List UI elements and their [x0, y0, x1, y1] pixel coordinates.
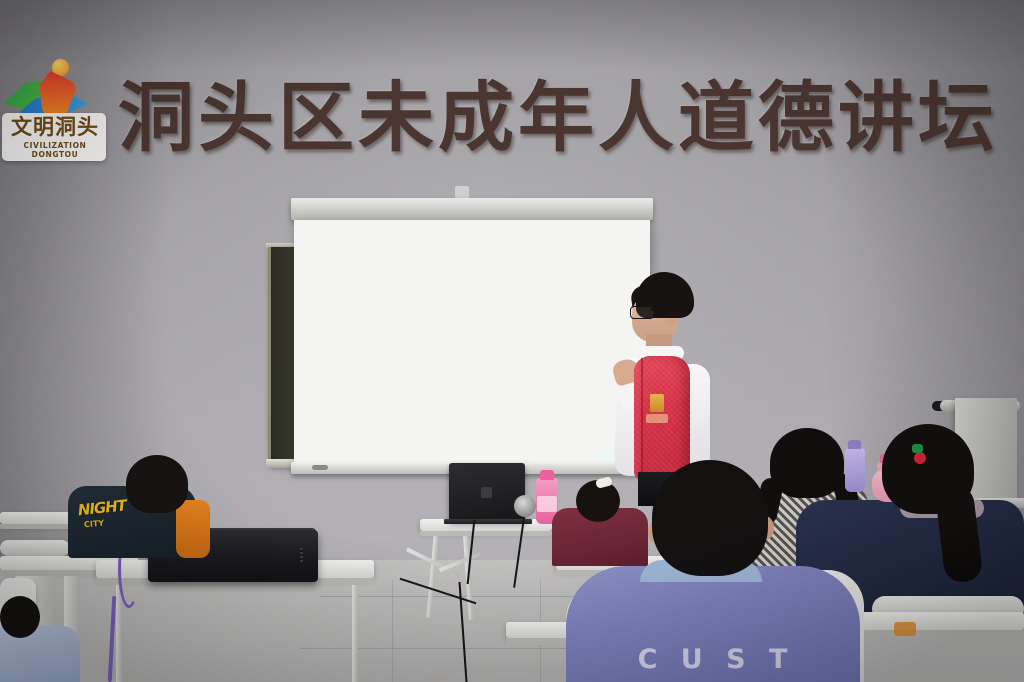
av-table-edge	[420, 531, 552, 536]
hair-clip-icon	[914, 452, 926, 464]
hair-clip-icon	[912, 444, 923, 453]
logo-chinese-text: 文明洞头	[8, 117, 102, 138]
desk-leg	[116, 585, 122, 682]
student-foreground-jacket-text: C U S T	[596, 644, 836, 675]
chair-backrest[interactable]	[0, 540, 70, 556]
vest-zipper	[641, 358, 643, 478]
mouse[interactable]	[514, 495, 536, 517]
screen-housing	[291, 198, 653, 220]
front-desk-top	[856, 612, 1024, 630]
bottle-cap	[848, 440, 861, 449]
front-desk-edge	[856, 630, 1024, 638]
student-far-left-head	[0, 596, 40, 638]
student-navy-head	[882, 424, 974, 514]
vest-badge-icon	[650, 394, 664, 412]
student-houndstooth-head	[770, 428, 844, 498]
projection-screen: 四·认识生活中的消防器材 烟感 温感 消防栓消防水带 一般是放在楼道里 消火栓水…	[294, 220, 650, 466]
bottle-cap	[540, 470, 554, 480]
projector-vent	[300, 548, 303, 564]
student-left-sleeve	[176, 500, 210, 558]
desk-leg	[352, 585, 358, 682]
laptop-logo-icon	[481, 487, 492, 498]
floor-tile-line	[392, 580, 393, 682]
bottle-label	[537, 496, 557, 512]
desk-item-orange[interactable]	[894, 622, 916, 636]
wall-banner-title: 洞头区未成年人道德讲坛	[118, 68, 1008, 168]
logo-english-text: CIVILIZATION DONGTOU	[6, 141, 104, 159]
civilization-dongtou-logo: 文明洞头 CIVILIZATION DONGTOU	[2, 55, 114, 183]
classroom-photo-scene: 文明洞头 CIVILIZATION DONGTOU 洞头区未成年人道德讲坛 四·…	[0, 0, 1024, 682]
laptop-base	[444, 519, 532, 524]
student-foreground-head	[652, 460, 768, 576]
water-bottle-purple[interactable]	[845, 448, 865, 492]
screen-pull-knob[interactable]	[312, 465, 328, 470]
presenter-figure	[614, 272, 718, 486]
vest-badge-text	[646, 414, 668, 423]
